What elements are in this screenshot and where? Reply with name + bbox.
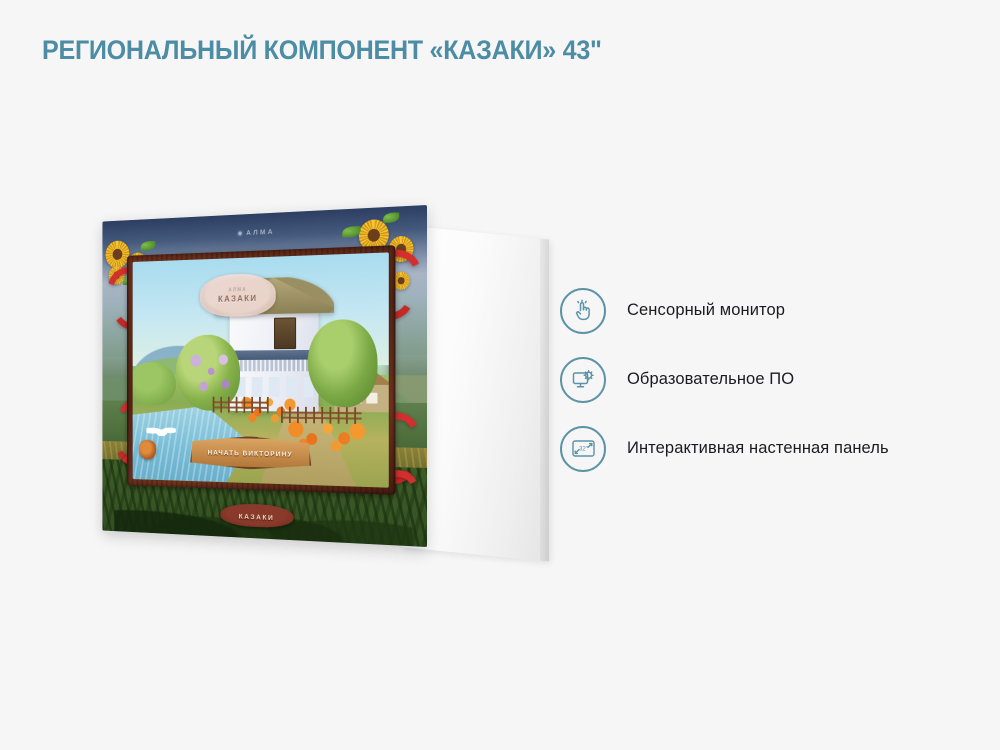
screen-size-icon: 32" xyxy=(560,426,606,472)
touch-screen[interactable]: АЛМА КАЗАКИ НАЧАТЬ ВИКТОРИНУ xyxy=(132,253,389,488)
page-title: РЕГИОНАЛЬНЫЙ КОМПОНЕНТ «КАЗАКИ» 43" xyxy=(42,35,602,66)
brand-label: АЛМА xyxy=(246,227,275,237)
screen-lilac-flowers xyxy=(185,348,240,402)
screen-geese xyxy=(147,423,176,439)
screen-bush-right xyxy=(308,319,378,408)
feature-item-wall-panel: 32" Интерактивная настенная панель xyxy=(560,414,980,483)
feature-label-wall-panel: Интерактивная настенная панель xyxy=(627,439,889,458)
feature-list: Сенсорный монитор Образовательное ПО 32"… xyxy=(560,276,980,483)
screen-house-door xyxy=(274,318,297,350)
screen-house-railing xyxy=(230,360,318,372)
bottom-plaque-label: КАЗАКИ xyxy=(239,512,275,522)
feature-label-educational-software: Образовательное ПО xyxy=(627,370,794,389)
feature-item-touch-monitor: Сенсорный монитор xyxy=(560,276,980,345)
feature-label-touch-monitor: Сенсорный монитор xyxy=(627,301,785,320)
device-mockup: АЛМА xyxy=(55,205,515,565)
screen-size-label: 32" xyxy=(579,447,588,453)
wooden-frame: АЛМА КАЗАКИ НАЧАТЬ ВИКТОРИНУ xyxy=(127,246,396,495)
start-quiz-label: НАЧАТЬ ВИКТОРИНУ xyxy=(208,448,293,459)
game-title-banner: АЛМА КАЗАКИ xyxy=(200,273,276,317)
screen-fence xyxy=(212,397,268,413)
brand-dot-icon xyxy=(238,231,241,235)
screen-fence xyxy=(281,407,361,424)
monitor-gear-icon xyxy=(560,357,606,403)
game-banner-title: КАЗАКИ xyxy=(218,293,257,303)
screen-tree-left xyxy=(132,362,175,406)
feature-item-educational-software: Образовательное ПО xyxy=(560,345,980,414)
screen-house-balcony xyxy=(230,350,318,361)
touch-hand-icon xyxy=(560,288,606,334)
game-banner-subtitle: АЛМА xyxy=(228,287,246,293)
device-front-face: АЛМА xyxy=(102,205,427,547)
